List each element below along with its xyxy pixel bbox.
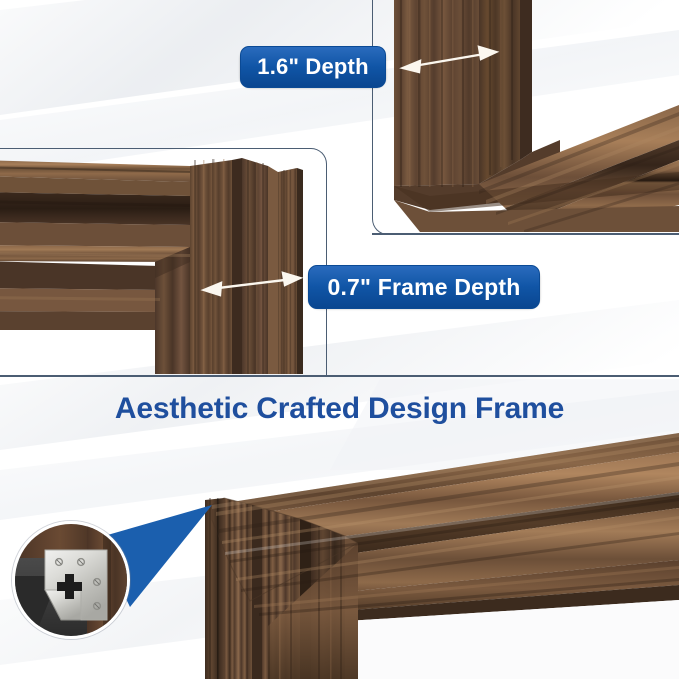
magnifier-circle-icon	[12, 521, 130, 639]
infographic-canvas: 1.6" Depth 0.7" Frame Depth Aesthetic Cr…	[0, 0, 679, 679]
corner-bracket-zoom-inset[interactable]	[12, 513, 222, 643]
corner-bracket-illustration	[15, 524, 127, 636]
